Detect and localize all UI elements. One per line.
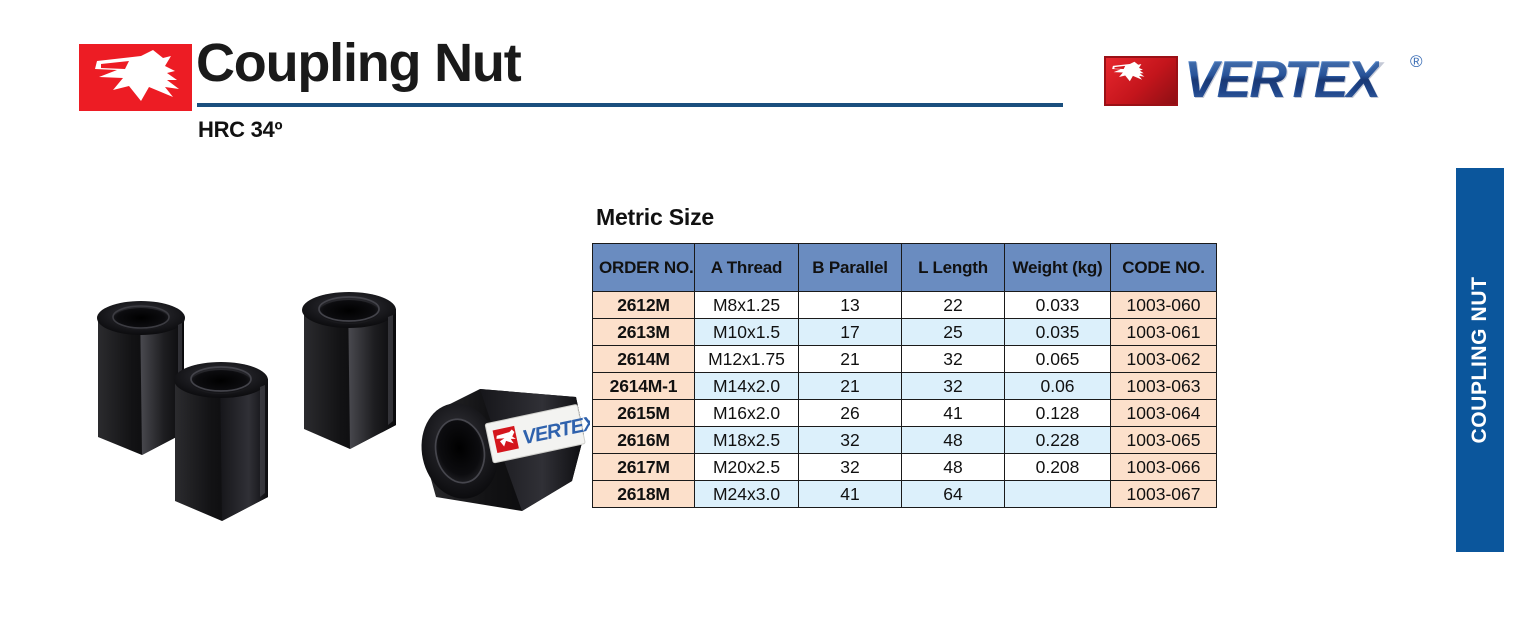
table-row: 2614MM12x1.7521320.0651003-062: [593, 346, 1217, 373]
vertex-brand-logo: VERTEX ®: [1104, 50, 1434, 112]
cell-weight: 0.033: [1005, 292, 1111, 319]
cell-b-parallel: 32: [799, 427, 902, 454]
cell-code-no: 1003-063: [1111, 373, 1217, 400]
coupling-nut-2: [174, 362, 268, 521]
product-photo: VERTEX: [60, 265, 590, 555]
coupling-nut-4-with-label: VERTEX: [413, 389, 590, 511]
cell-l-length: 48: [902, 427, 1005, 454]
cell-l-length: 32: [902, 373, 1005, 400]
table-header-row: ORDER NO. A Thread B Parallel L Length W…: [593, 244, 1217, 292]
cell-l-length: 22: [902, 292, 1005, 319]
cell-b-parallel: 17: [799, 319, 902, 346]
registered-trademark-icon: ®: [1410, 52, 1423, 72]
cell-l-length: 32: [902, 346, 1005, 373]
cell-weight: 0.065: [1005, 346, 1111, 373]
column-header-l-length: L Length: [902, 244, 1005, 292]
coupling-nut-photo-illustration: VERTEX: [60, 265, 590, 555]
cell-a-thread: M16x2.0: [695, 400, 799, 427]
cell-code-no: 1003-064: [1111, 400, 1217, 427]
table-row: 2618MM24x3.041641003-067: [593, 481, 1217, 508]
cell-code-no: 1003-065: [1111, 427, 1217, 454]
column-header-order-no: ORDER NO.: [593, 244, 695, 292]
header-eagle-logo: [79, 44, 192, 111]
title-divider: [197, 103, 1063, 107]
cell-a-thread: M18x2.5: [695, 427, 799, 454]
cell-b-parallel: 21: [799, 373, 902, 400]
coupling-nut-1: [97, 301, 185, 455]
cell-b-parallel: 21: [799, 346, 902, 373]
cell-order-no: 2614M: [593, 346, 695, 373]
cell-l-length: 48: [902, 454, 1005, 481]
table-row: 2612MM8x1.2513220.0331003-060: [593, 292, 1217, 319]
cell-weight: 0.208: [1005, 454, 1111, 481]
page-title: Coupling Nut: [196, 36, 521, 90]
table-caption: Metric Size: [596, 204, 714, 231]
table-row: 2614M-1M14x2.021320.061003-063: [593, 373, 1217, 400]
cell-code-no: 1003-066: [1111, 454, 1217, 481]
cell-weight: [1005, 481, 1111, 508]
cell-order-no: 2618M: [593, 481, 695, 508]
brand-wordmark: VERTEX: [1184, 50, 1379, 110]
cell-code-no: 1003-067: [1111, 481, 1217, 508]
table-row: 2615MM16x2.026410.1281003-064: [593, 400, 1217, 427]
cell-order-no: 2614M-1: [593, 373, 695, 400]
cell-order-no: 2615M: [593, 400, 695, 427]
cell-weight: 0.228: [1005, 427, 1111, 454]
coupling-nut-3: [302, 292, 396, 449]
cell-order-no: 2612M: [593, 292, 695, 319]
table-row: 2616MM18x2.532480.2281003-065: [593, 427, 1217, 454]
cell-order-no: 2613M: [593, 319, 695, 346]
cell-l-length: 64: [902, 481, 1005, 508]
cell-a-thread: M12x1.75: [695, 346, 799, 373]
section-tab-coupling-nut[interactable]: COUPLING NUT: [1456, 168, 1504, 552]
cell-b-parallel: 13: [799, 292, 902, 319]
brand-eagle-icon: [1104, 56, 1178, 106]
cell-b-parallel: 26: [799, 400, 902, 427]
cell-weight: 0.128: [1005, 400, 1111, 427]
cell-code-no: 1003-061: [1111, 319, 1217, 346]
eagle-head-icon: [79, 44, 192, 111]
cell-order-no: 2616M: [593, 427, 695, 454]
page-subtitle-hardness: HRC 34º: [198, 117, 282, 143]
column-header-weight: Weight (kg): [1005, 244, 1111, 292]
cell-a-thread: M10x1.5: [695, 319, 799, 346]
cell-l-length: 25: [902, 319, 1005, 346]
section-tab-label: COUPLING NUT: [1468, 276, 1492, 443]
cell-b-parallel: 32: [799, 454, 902, 481]
column-header-a-thread: A Thread: [695, 244, 799, 292]
eagle-head-icon: [1106, 58, 1149, 87]
column-header-b-parallel: B Parallel: [799, 244, 902, 292]
column-header-code-no: CODE NO.: [1111, 244, 1217, 292]
cell-code-no: 1003-062: [1111, 346, 1217, 373]
cell-a-thread: M14x2.0: [695, 373, 799, 400]
cell-code-no: 1003-060: [1111, 292, 1217, 319]
cell-b-parallel: 41: [799, 481, 902, 508]
table-row: 2613MM10x1.517250.0351003-061: [593, 319, 1217, 346]
cell-a-thread: M24x3.0: [695, 481, 799, 508]
cell-a-thread: M20x2.5: [695, 454, 799, 481]
cell-l-length: 41: [902, 400, 1005, 427]
coupling-nut-spec-table: ORDER NO. A Thread B Parallel L Length W…: [592, 243, 1217, 508]
table-row: 2617MM20x2.532480.2081003-066: [593, 454, 1217, 481]
cell-weight: 0.035: [1005, 319, 1111, 346]
cell-a-thread: M8x1.25: [695, 292, 799, 319]
cell-weight: 0.06: [1005, 373, 1111, 400]
cell-order-no: 2617M: [593, 454, 695, 481]
